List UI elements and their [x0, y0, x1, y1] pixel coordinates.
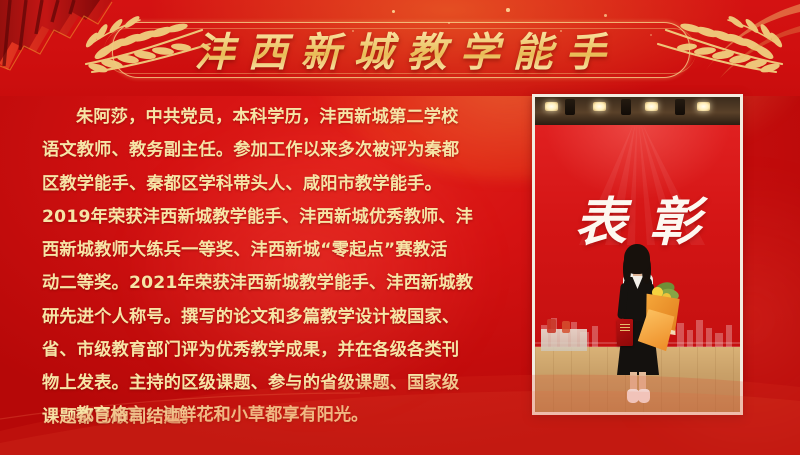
profile-line: 2019年荣获沣西新城教学能手、沣西新城优秀教师、沣 [42, 201, 492, 234]
stage-truss [565, 99, 575, 115]
stage-light [645, 102, 658, 111]
profile-line: 区教学能手、秦都区学科带头人、咸阳市教学能手。 [42, 168, 492, 201]
stage-truss [675, 99, 685, 115]
stage-light [697, 102, 710, 111]
profile-line: 朱阿莎，中共党员，本科学历，沣西新城第二学校 [42, 101, 492, 134]
profile-line: 语文教师、教务副主任。参加工作以来多次被评为秦都 [42, 134, 492, 167]
award-photo-frame: 表彰 [532, 94, 743, 415]
person-hair [624, 244, 650, 274]
stage-light [545, 102, 558, 111]
certificate-emblem [620, 324, 630, 331]
stage-truss [621, 99, 631, 115]
profile-line: 省、市级教育部门评为优秀教学成果，并在各级各类刊 [42, 334, 492, 367]
profile-line: 物上发表。主持的区级课题、参与的省级课题、国家级 [42, 367, 492, 400]
profile-line: 西新城教师大练兵一等奖、沣西新城“零起点”赛教活 [42, 234, 492, 267]
stage-light [593, 102, 606, 111]
backdrop-calligraphy: 表彰 [535, 197, 740, 249]
profile-line: 研先进个人称号。撰写的论文和多篇教学设计被国家、 [42, 301, 492, 334]
profile-line: 动二等奖。2021年荣获沣西新城教学能手、沣西新城教 [42, 267, 492, 300]
person-shoe [638, 389, 650, 403]
stage-flower-vase [562, 321, 570, 333]
profile-text: 朱阿莎，中共党员，本科学历，沣西新城第二学校 语文教师、教务副主任。参加工作以来… [42, 101, 492, 434]
award-photo: 表彰 [535, 97, 740, 412]
education-motto: 教育格言：让鲜花和小草都享有阳光。 [42, 400, 492, 430]
stage-flower-vase [547, 319, 556, 333]
poster-root: 沣西新城教学能手 朱阿莎，中共党员，本科学历，沣西新城第 [0, 0, 800, 455]
